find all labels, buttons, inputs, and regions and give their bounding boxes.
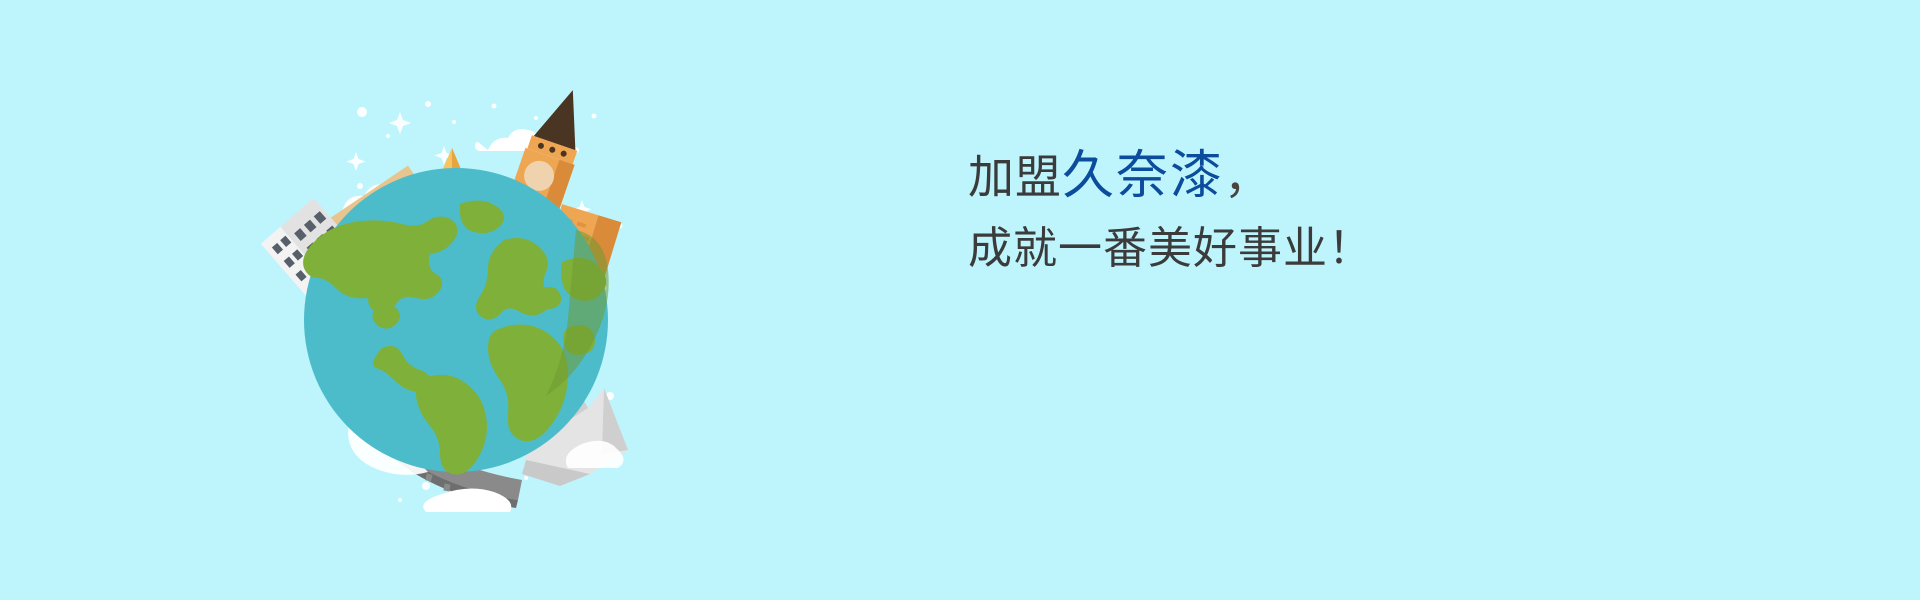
headline-comma: ， bbox=[1224, 150, 1271, 204]
headline-line-2: 成就一番美好事业！ bbox=[968, 213, 1728, 285]
globe-with-world-landmarks-illustration bbox=[186, 30, 726, 570]
brand-name: 久奈漆 bbox=[1062, 146, 1224, 206]
headline-block: 加盟久奈漆， 成就一番美好事业！ bbox=[968, 140, 1728, 285]
promotional-banner: 加盟久奈漆， 成就一番美好事业！ bbox=[0, 0, 1920, 600]
headline-line-1: 加盟久奈漆， bbox=[968, 140, 1728, 213]
headline-prefix: 加盟 bbox=[968, 150, 1062, 204]
